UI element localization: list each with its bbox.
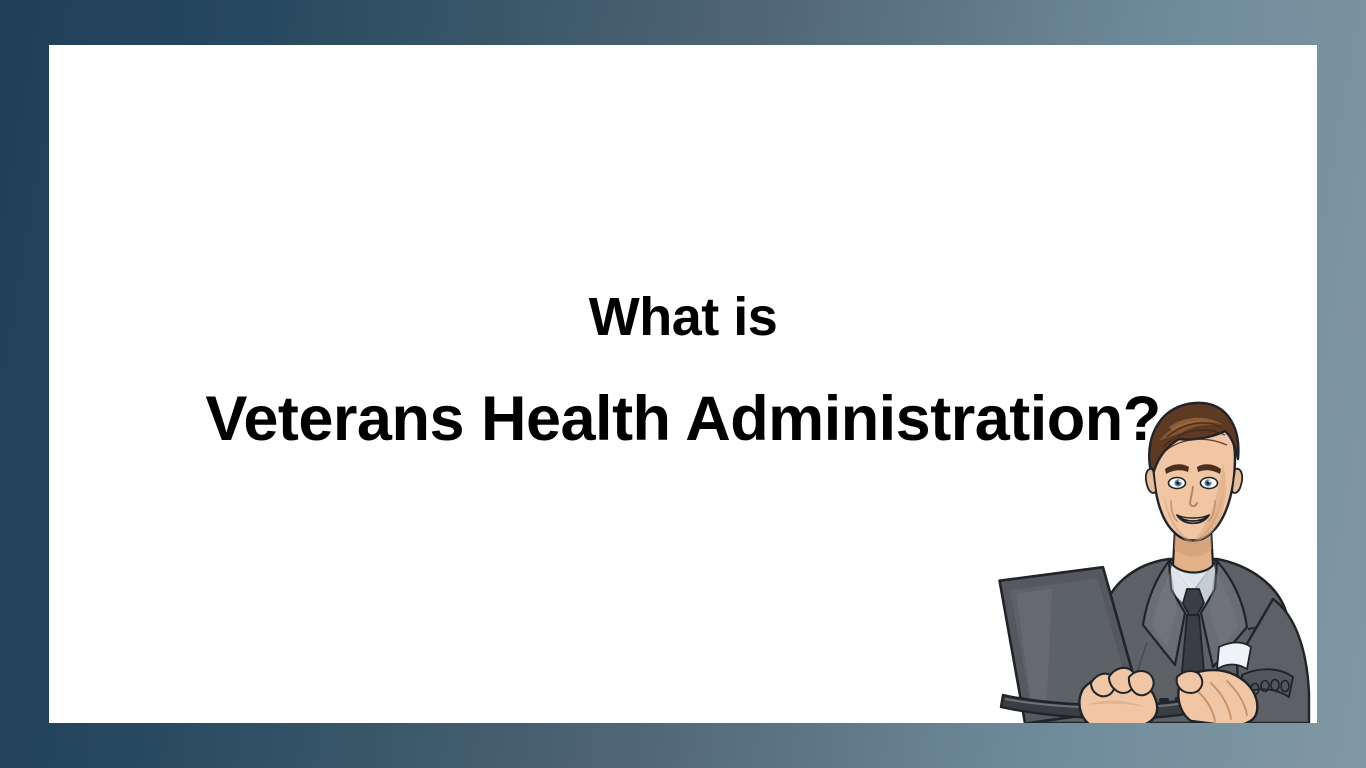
title-line-1: What is <box>49 290 1317 344</box>
title-line-2: Veterans Health Administration? <box>49 388 1317 451</box>
page-title: What is Veterans Health Administration? <box>49 290 1317 451</box>
white-content-panel: What is Veterans Health Administration? <box>49 45 1317 723</box>
slide-canvas: What is Veterans Health Administration? <box>0 0 1366 768</box>
